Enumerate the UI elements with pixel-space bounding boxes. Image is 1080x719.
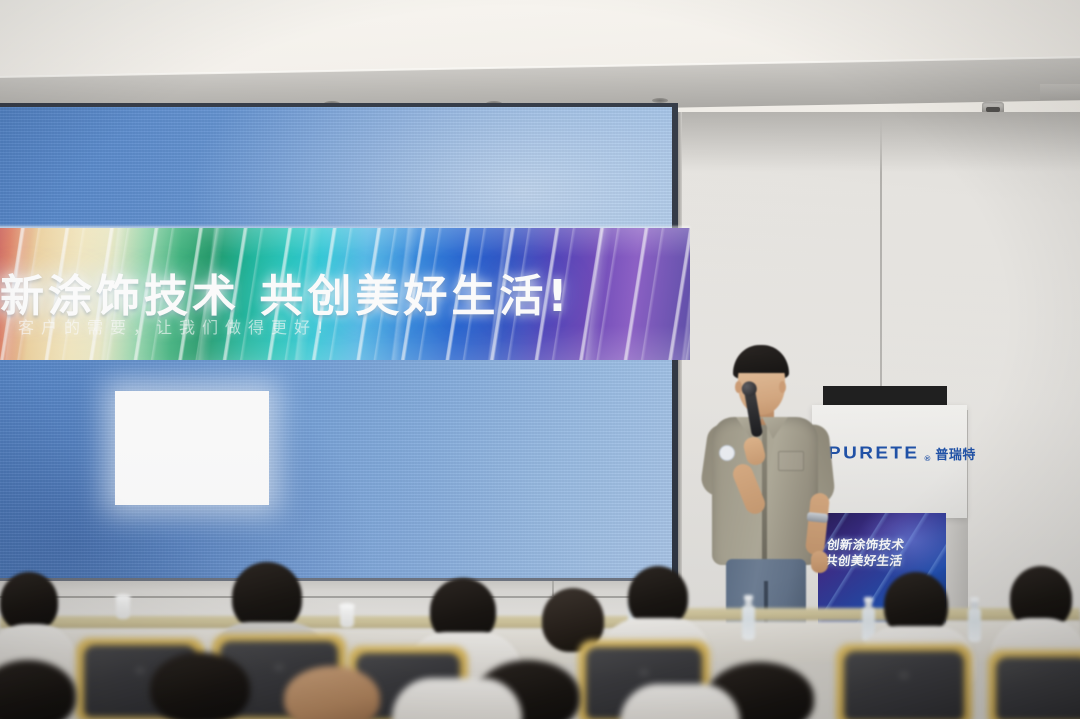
photo-scene: PURETE ® 普瑞特 创新涂饰技术 共创美好生活! 客户的需要，让我们做得更… — [0, 0, 1080, 719]
audience-head-foreground — [150, 652, 250, 719]
paper-cup — [340, 606, 354, 628]
screen-bottom-edge — [0, 578, 680, 581]
chair-back — [844, 651, 964, 719]
paper-cup — [116, 597, 130, 619]
podium-logo-registered-icon: ® — [924, 455, 930, 462]
presenter-right-hand — [811, 551, 828, 573]
slide-white-card — [115, 391, 269, 505]
slide-subline: 客户的需要，让我们做得更好! — [18, 314, 538, 338]
audience-head — [0, 572, 58, 632]
chair-dimple — [639, 669, 649, 676]
chair-dimple — [135, 667, 145, 674]
presenter — [690, 345, 860, 645]
chair — [836, 644, 972, 719]
chair-back — [996, 657, 1080, 719]
audience-shoulders-foreground — [620, 684, 740, 719]
audience-shoulders-foreground — [392, 678, 522, 719]
water-bottle — [968, 608, 981, 642]
chair — [988, 650, 1080, 719]
wall-top-shading — [672, 112, 1080, 172]
chair-dimple — [274, 664, 284, 671]
podium-logo-chinese: 普瑞特 — [935, 449, 976, 463]
presenter-hair-front — [735, 355, 788, 373]
chair-dimple — [899, 672, 909, 679]
presenter-ear — [779, 381, 786, 393]
water-bottle — [742, 606, 755, 640]
presenter-badge — [719, 445, 735, 461]
air-vent-icon — [1040, 84, 1080, 100]
presenter-shirt-pocket — [778, 451, 804, 471]
